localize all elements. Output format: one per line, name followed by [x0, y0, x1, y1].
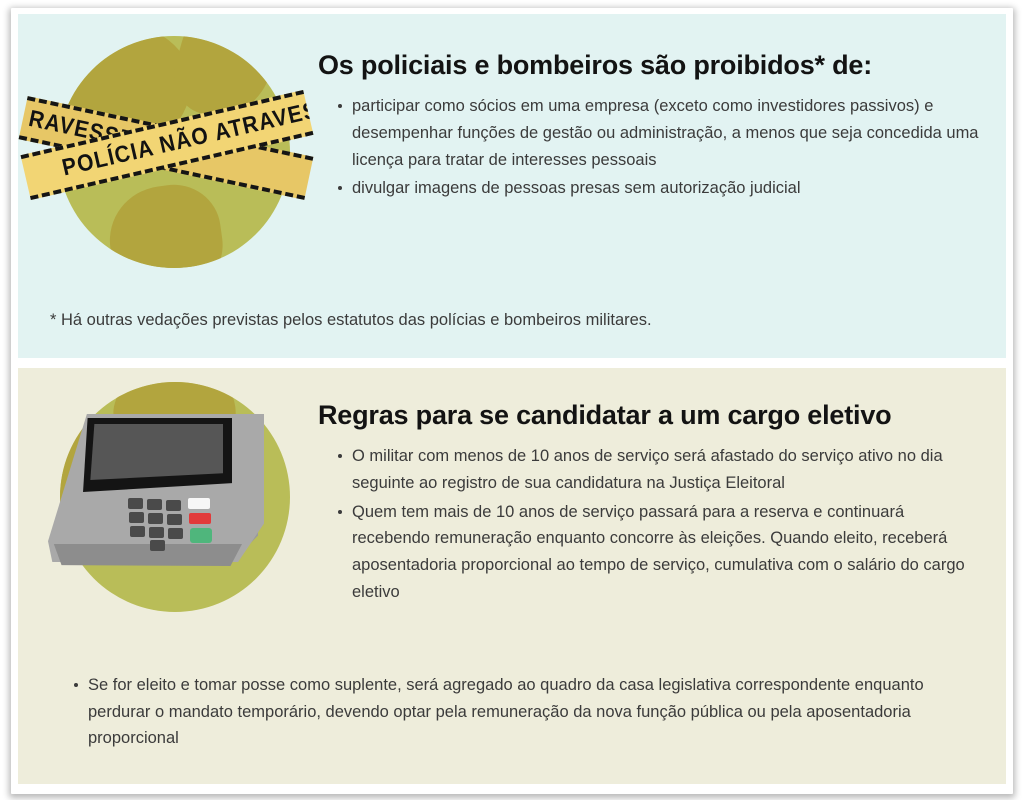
- panel-divider: [18, 358, 1006, 368]
- circle-shade-blob: [103, 179, 229, 268]
- machine-button-green: [190, 528, 212, 543]
- panel-prohibitions-list: participar como sócios em uma empresa (e…: [318, 93, 982, 202]
- list-item: Se for eleito e tomar posse como suplent…: [74, 672, 976, 752]
- keypad-key: [130, 526, 145, 537]
- panel-prohibitions-content: Os policiais e bombeiros são proibidos* …: [318, 14, 1006, 204]
- voting-machine-illustration: [18, 368, 318, 668]
- keypad-key: [168, 528, 183, 539]
- police-tape-illustration: RAVESSE POLÍCIA NÃO ATRAVESSE: [18, 14, 318, 294]
- keypad-key: [148, 513, 163, 524]
- panel-prohibitions-title: Os policiais e bombeiros são proibidos* …: [318, 50, 982, 81]
- keypad-key: [166, 500, 181, 511]
- machine-button-white: [188, 498, 210, 509]
- list-item: participar como sócios em uma empresa (e…: [338, 93, 982, 173]
- panel-prohibitions: RAVESSE POLÍCIA NÃO ATRAVESSE Os policia…: [18, 14, 1006, 358]
- machine-base: [50, 544, 242, 566]
- machine-keypad: [128, 498, 194, 544]
- panel-prohibitions-body: RAVESSE POLÍCIA NÃO ATRAVESSE Os policia…: [18, 14, 1006, 294]
- panel-candidacy-wide-list: Se for eleito e tomar posse como suplent…: [18, 672, 1006, 752]
- voting-machine-icon: [48, 414, 272, 574]
- panel-prohibitions-footnote: * Há outras vedações previstas pelos est…: [18, 294, 1006, 333]
- panel-candidacy-content: Regras para se candidatar a um cargo ele…: [318, 368, 1006, 608]
- infographic-page: RAVESSE POLÍCIA NÃO ATRAVESSE Os policia…: [0, 0, 1024, 800]
- keypad-key-zero: [150, 540, 165, 551]
- panels-container: RAVESSE POLÍCIA NÃO ATRAVESSE Os policia…: [18, 14, 1006, 784]
- panel-candidacy-rules: Regras para se candidatar a um cargo ele…: [18, 368, 1006, 784]
- keypad-key: [128, 498, 143, 509]
- keypad-key: [129, 512, 144, 523]
- panel-candidacy-body: Regras para se candidatar a um cargo ele…: [18, 368, 1006, 668]
- machine-button-red: [189, 513, 211, 524]
- keypad-key: [167, 514, 182, 525]
- keypad-key: [149, 527, 164, 538]
- machine-screen: [89, 424, 223, 480]
- list-item: divulgar imagens de pessoas presas sem a…: [338, 175, 982, 202]
- list-item: O militar com menos de 10 anos de serviç…: [338, 443, 982, 496]
- keypad-key: [147, 499, 162, 510]
- list-item: Quem tem mais de 10 anos de serviço pass…: [338, 499, 982, 606]
- panel-candidacy-title: Regras para se candidatar a um cargo ele…: [318, 400, 982, 431]
- panel-candidacy-list: O militar com menos de 10 anos de serviç…: [318, 443, 982, 605]
